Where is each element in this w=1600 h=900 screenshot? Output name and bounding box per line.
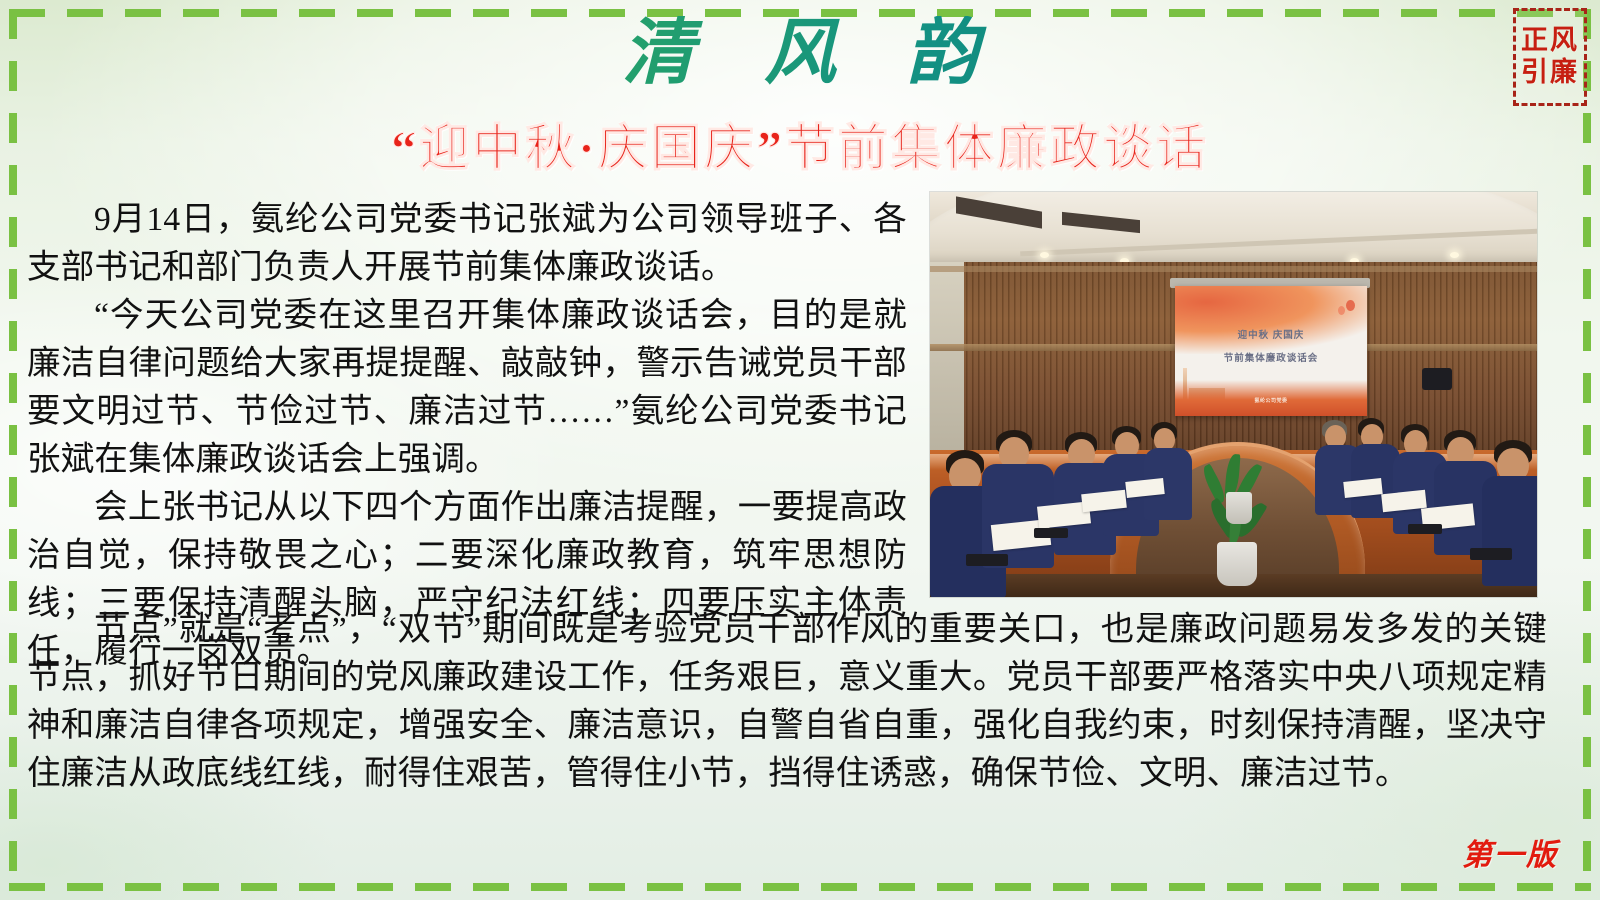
slide-title-line-1: 迎中秋 庆国庆 xyxy=(1175,327,1367,341)
slide-balloon-icon xyxy=(1346,300,1355,311)
photo-monitor xyxy=(1422,368,1452,390)
slide-balloon-icon xyxy=(1338,306,1345,315)
article-left-column: 9月14日，氨纶公司党委书记张斌为公司领导班子、各支部书记和部门负责人开展节前集… xyxy=(27,196,907,676)
seal-line-2: 引廉 xyxy=(1521,58,1579,88)
photo-phone xyxy=(1470,548,1512,560)
meeting-photo: 迎中秋 庆国庆 节前集体廉政谈话会 氨纶公司党委 xyxy=(930,192,1537,597)
slide-title-line-2: 节前集体廉政谈话会 xyxy=(1175,350,1367,364)
photo-phone xyxy=(966,554,1008,566)
seal-badge: 正风 引廉 xyxy=(1513,8,1587,106)
photo-phone xyxy=(1408,524,1442,534)
article-paragraph: 节点”就是“考点”，“双节”期间既是考验党员干部作风的重要关口，也是廉政问题易发… xyxy=(27,606,1547,798)
article-full-width-block: 节点”就是“考点”，“双节”期间既是考验党员干部作风的重要关口，也是廉政问题易发… xyxy=(27,606,1547,798)
photo-ceiling-light xyxy=(1450,252,1459,258)
photo-projector-screen: 迎中秋 庆国庆 节前集体廉政谈话会 氨纶公司党委 xyxy=(1175,286,1367,416)
page-title: 清 风 韵 xyxy=(0,16,1600,91)
page-subtitle: “迎中秋·庆国庆”节前集体廉政谈话 xyxy=(0,108,1600,180)
article-paragraph: “今天公司党委在这里召开集体廉政谈话会，目的是就廉洁自律问题给大家再提提醒、敲敲… xyxy=(27,292,907,484)
seal-line-1: 正风 xyxy=(1521,26,1579,56)
photo-phone xyxy=(1034,528,1068,538)
photo-plant-pot xyxy=(1217,542,1257,586)
photo-ceiling-light xyxy=(1040,252,1049,258)
page-number-label: 第一版 xyxy=(1462,830,1558,874)
frame-edge-bottom xyxy=(9,883,1591,891)
slide-footer-line: 氨纶公司党委 xyxy=(1175,397,1367,404)
article-paragraph: 9月14日，氨纶公司党委书记张斌为公司领导班子、各支部书记和部门负责人开展节前集… xyxy=(27,196,907,292)
photo-plant-pot-upper xyxy=(1226,492,1252,524)
photo-side-panel xyxy=(930,262,964,454)
slide-graphic-top xyxy=(1175,286,1367,354)
page-header: 清 风 韵 “迎中秋·庆国庆”节前集体廉政谈话 xyxy=(0,0,1600,185)
photo-wall-trim xyxy=(930,266,1537,272)
